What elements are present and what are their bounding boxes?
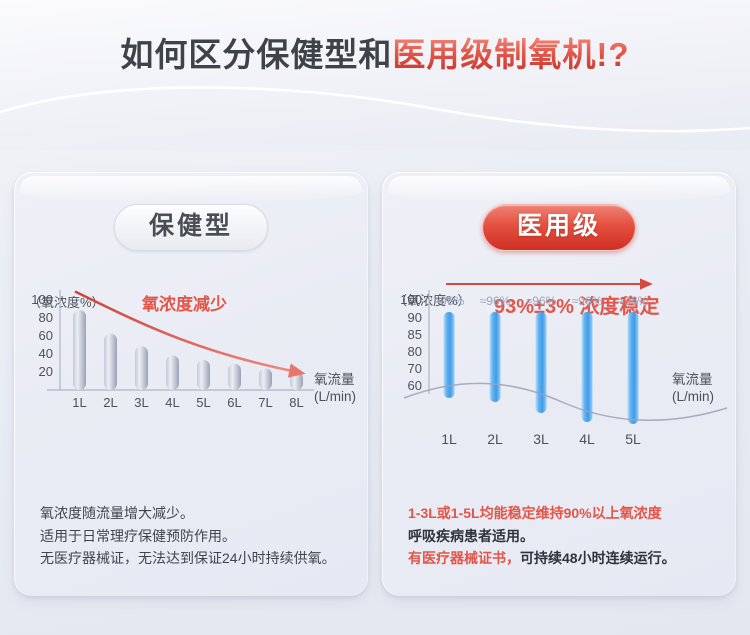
left-x-axis-label: 氧流量 (L/min) (314, 372, 356, 406)
svg-text:≈96%: ≈96% (572, 294, 603, 308)
left-footer-line-2: 适用于日常理疗保健预防作用。 (40, 525, 350, 548)
badge-medical-grade: 医用级 (482, 204, 636, 251)
svg-text:7L: 7L (258, 395, 272, 410)
svg-text:90: 90 (408, 310, 422, 325)
right-footer-text: 1-3L或1-5L均能稳定维持90%以上氧浓度 呼吸疾病患者适用。 有医疗器械证… (408, 502, 718, 570)
svg-text:≈96%: ≈96% (618, 294, 649, 308)
svg-text:20: 20 (39, 364, 53, 379)
svg-text:85: 85 (408, 327, 422, 342)
right-x-axis-unit-text: (L/min) (672, 389, 714, 404)
svg-text:≈96%: ≈96% (526, 294, 557, 308)
svg-text:40: 40 (39, 346, 53, 361)
badge-wrap-health: 保健型 (14, 204, 368, 251)
comparison-panels: 保健型 （氧浓度%） 氧浓度减少 (14, 172, 736, 596)
svg-text:1L: 1L (441, 431, 457, 447)
svg-text:6L: 6L (227, 395, 241, 410)
svg-text:70: 70 (408, 361, 422, 376)
svg-text:60: 60 (39, 328, 53, 343)
svg-text:≈96%: ≈96% (434, 294, 465, 308)
svg-text:5L: 5L (625, 431, 641, 447)
badge-wrap-medical: 医用级 (382, 204, 736, 251)
panel-health-grade: 保健型 （氧浓度%） 氧浓度减少 (14, 172, 368, 596)
header-banner: 如何区分保健型和医用级制氧机!? (0, 0, 750, 150)
panel-sheen (20, 176, 362, 202)
right-footer-line-3-dark: 可持续48小时连续运行。 (520, 550, 676, 566)
left-x-axis-unit-text: (L/min) (314, 389, 356, 404)
svg-text:≈96%: ≈96% (480, 294, 511, 308)
badge-health-grade: 保健型 (114, 204, 268, 251)
svg-text:100: 100 (31, 292, 53, 307)
right-footer-line-2: 呼吸疾病患者适用。 (408, 525, 718, 548)
svg-text:4L: 4L (165, 395, 179, 410)
svg-text:2L: 2L (487, 431, 503, 447)
right-footer-line-1: 1-3L或1-5L均能稳定维持90%以上氧浓度 (408, 502, 718, 525)
page-title: 如何区分保健型和医用级制氧机!? (0, 28, 750, 76)
panel-medical-grade: 医用级 （氧浓度%） 93%±3% 浓度稳定 (382, 172, 736, 596)
left-footer-line-3: 无医疗器械证，无法达到保证24小时持续供氧。 (40, 547, 350, 570)
svg-text:80: 80 (408, 344, 422, 359)
svg-text:60: 60 (408, 378, 422, 393)
right-footer-line-3-red: 有医疗器械证书， (408, 550, 520, 566)
svg-text:8L: 8L (289, 395, 303, 410)
right-x-axis-label: 氧流量 (L/min) (672, 372, 714, 406)
left-x-axis-label-text: 氧流量 (314, 372, 355, 387)
panel-sheen (388, 176, 730, 202)
page-title-dark: 如何区分保健型和 (120, 36, 392, 73)
svg-text:5L: 5L (196, 395, 210, 410)
svg-text:80: 80 (39, 310, 53, 325)
svg-text:3L: 3L (134, 395, 148, 410)
svg-text:1L: 1L (72, 395, 86, 410)
chart-health-grade: 100 80 60 40 20 (14, 268, 368, 468)
svg-text:3L: 3L (533, 431, 549, 447)
header-wave-decoration (0, 78, 750, 148)
svg-text:2L: 2L (103, 395, 117, 410)
chart-medical-grade: 100 90 85 80 70 60 ≈96% ≈96% ≈96% ≈96% ≈… (382, 268, 736, 468)
left-footer-line-1: 氧浓度随流量增大减少。 (40, 502, 350, 525)
svg-text:100: 100 (400, 292, 422, 307)
right-footer-line-3: 有医疗器械证书，可持续48小时连续运行。 (408, 547, 718, 570)
left-footer-text: 氧浓度随流量增大减少。 适用于日常理疗保健预防作用。 无医疗器械证，无法达到保证… (40, 502, 350, 570)
right-x-axis-label-text: 氧流量 (672, 372, 713, 387)
svg-text:4L: 4L (579, 431, 595, 447)
page-title-red: 医用级制氧机!? (392, 36, 629, 73)
